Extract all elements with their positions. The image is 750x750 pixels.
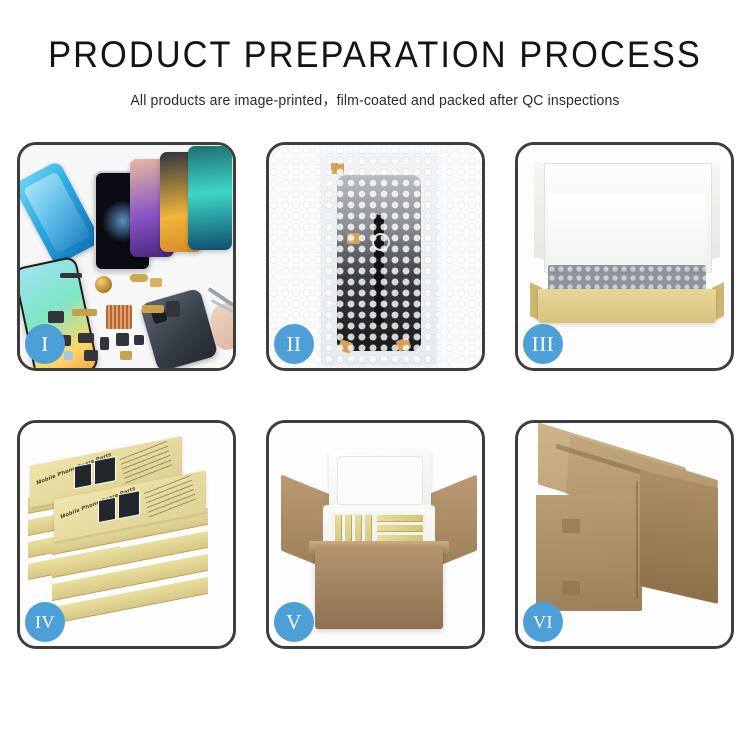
process-panel-1[interactable]: I [17, 142, 236, 371]
page-title: PRODUCT PREPARATION PROCESS [26, 36, 724, 75]
blue-film-screen-icon [20, 160, 102, 266]
carton-front-icon [536, 495, 642, 611]
part-icon [116, 333, 129, 346]
page-header: PRODUCT PREPARATION PROCESS All products… [0, 0, 750, 110]
part-icon [120, 351, 132, 360]
part-icon [130, 274, 148, 282]
yellow-box-icon [377, 515, 423, 522]
part-icon [72, 309, 97, 316]
part-icon [134, 335, 144, 345]
step-badge-3: III [523, 324, 563, 364]
vibration-motor-icon [95, 276, 112, 293]
box-front-icon [538, 289, 716, 323]
part-icon [100, 337, 109, 350]
part-icon [84, 350, 98, 361]
box-window-icon [74, 463, 92, 489]
step-badge-1: I [25, 324, 65, 364]
part-icon [48, 311, 64, 323]
part-icon [166, 301, 180, 317]
box-print-lines [144, 475, 196, 518]
part-icon [60, 273, 82, 278]
part-icon [78, 333, 94, 343]
foam-lid-icon [329, 449, 431, 513]
box-window-icon [98, 497, 116, 523]
carton-tape-icon [562, 519, 580, 533]
step-badge-5: V [274, 602, 314, 642]
process-panel-grid: I II II [17, 142, 733, 679]
process-panel-2[interactable]: II [266, 142, 485, 371]
carton-body-icon [315, 547, 443, 629]
step-badge-6: VI [523, 602, 563, 642]
chip-grid-icon [106, 305, 132, 329]
part-icon [142, 305, 164, 313]
process-panel-3[interactable]: III [515, 142, 734, 371]
box-window-icon [94, 456, 116, 485]
page-subtitle: All products are image-printed，film-coat… [11, 89, 739, 110]
yellow-box-icon [377, 525, 423, 532]
carton-tape-icon [562, 581, 580, 595]
process-panel-6[interactable]: VI [515, 420, 734, 649]
step-badge-2: II [274, 324, 314, 364]
carton-edge [636, 481, 638, 599]
foam-sheet-icon [548, 193, 706, 271]
carton-side-icon [640, 470, 718, 604]
part-icon [150, 278, 162, 287]
process-panel-5[interactable]: V [266, 420, 485, 649]
phone-back-housing-icon [140, 288, 219, 368]
step-badge-4: IV [25, 602, 65, 642]
box-window-icon [118, 490, 140, 519]
part-icon [64, 351, 73, 360]
phone-teal-icon [188, 146, 232, 250]
process-panel-4[interactable]: Mobile Phone Spare Parts Mobile Phone Sp… [17, 420, 236, 649]
